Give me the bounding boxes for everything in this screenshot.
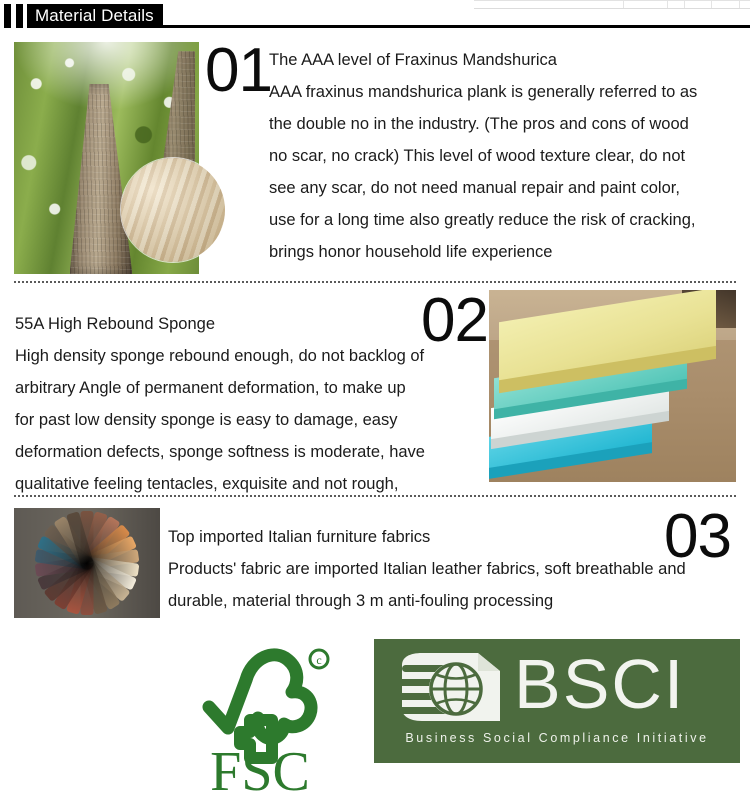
section-divider xyxy=(14,495,736,497)
section-02-line: deformation defects, sponge softness is … xyxy=(15,436,485,468)
section-01-text: The AAA level of Fraxinus Mandshurica AA… xyxy=(269,44,739,268)
bsci-hand-globe-icon xyxy=(382,643,522,729)
section-01-line: see any scar, do not need manual repair … xyxy=(269,172,739,204)
swatch-fan xyxy=(35,511,139,615)
section-02-line: for past low density sponge is easy to d… xyxy=(15,404,485,436)
wood-grain-swatch-circle xyxy=(121,158,225,262)
section-01-line: no scar, no crack) This level of wood te… xyxy=(269,140,739,172)
section-03-heading: Top imported Italian furniture fabrics xyxy=(168,521,743,553)
fsc-wordmark: FSC xyxy=(210,741,310,792)
section-divider xyxy=(14,281,736,283)
section-03-text: Top imported Italian furniture fabrics P… xyxy=(168,521,743,617)
fsc-tree-checkmark-icon: c FSC xyxy=(188,640,338,792)
section-03-line: durable, material through 3 m anti-fouli… xyxy=(168,585,743,617)
bsci-wordmark: BSCI xyxy=(514,641,685,727)
svg-text:c: c xyxy=(316,653,321,667)
section-header: Material Details xyxy=(0,4,750,28)
section-01-line: AAA fraxinus mandshurica plank is genera… xyxy=(269,76,739,108)
section-02-text: 55A High Rebound Sponge High density spo… xyxy=(15,308,485,500)
header-accent-bar-icon xyxy=(16,4,23,28)
bsci-tagline: Business Social Compliance Initiative xyxy=(374,731,740,745)
bsci-certification-logo: BSCI Business Social Compliance Initiati… xyxy=(374,639,740,763)
bsci-top-row: BSCI xyxy=(374,639,740,725)
section-01-heading: The AAA level of Fraxinus Mandshurica xyxy=(269,44,739,76)
section-02-line: High density sponge rebound enough, do n… xyxy=(15,340,485,372)
section-01-line: the double no in the industry. (The pros… xyxy=(269,108,739,140)
stacked-foam-sheets-photo xyxy=(489,290,736,482)
header-accent-bar-icon xyxy=(4,4,11,28)
leather-swatch-fan-photo xyxy=(14,508,160,618)
header-underline xyxy=(27,25,750,28)
section-number-01: 01 xyxy=(205,40,272,102)
section-02-heading: 55A High Rebound Sponge xyxy=(15,308,485,340)
section-01-line: use for a long time also greatly reduce … xyxy=(269,204,739,236)
fsc-certification-logo: c FSC xyxy=(188,640,338,792)
section-01-line: brings honor household life experience xyxy=(269,236,739,268)
section-02-line: arbitrary Angle of permanent deformation… xyxy=(15,372,485,404)
section-03-line: Products' fabric are imported Italian le… xyxy=(168,553,743,585)
